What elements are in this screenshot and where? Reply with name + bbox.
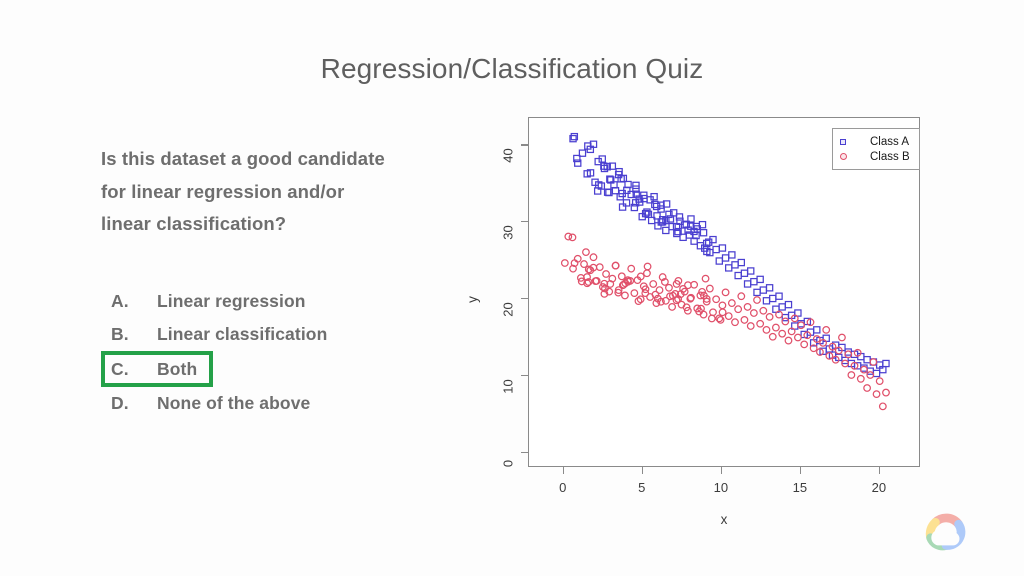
data-point xyxy=(760,287,766,293)
y-tick-label: 0 xyxy=(501,450,516,476)
legend-label-class-b: Class B xyxy=(858,151,910,163)
data-point xyxy=(633,182,639,188)
question-block: Is this dataset a good candidate for lin… xyxy=(101,143,391,241)
data-point xyxy=(644,270,651,277)
chart-legend: Class A Class B xyxy=(832,128,920,170)
data-point xyxy=(858,376,865,383)
data-point xyxy=(839,334,846,341)
data-point xyxy=(767,285,773,291)
data-point xyxy=(719,302,726,309)
data-point xyxy=(729,300,736,307)
data-point xyxy=(776,293,782,299)
data-point xyxy=(751,310,758,317)
data-point xyxy=(741,317,748,324)
data-point xyxy=(741,270,747,276)
data-point xyxy=(628,265,635,272)
y-tick-label: 30 xyxy=(501,219,516,245)
data-point xyxy=(785,337,792,344)
data-point xyxy=(697,243,703,249)
data-point xyxy=(562,260,569,267)
data-point xyxy=(801,341,808,348)
data-point xyxy=(716,258,722,264)
answer-option-label: None of the above xyxy=(157,393,310,414)
legend-item-class-a: Class A xyxy=(840,134,910,149)
legend-label-class-a: Class A xyxy=(858,136,909,148)
data-point xyxy=(700,230,706,236)
data-point xyxy=(823,335,829,341)
data-point xyxy=(732,262,738,268)
data-point xyxy=(779,304,785,310)
x-tick-mark xyxy=(721,467,723,474)
class-a-marker-icon xyxy=(840,139,858,145)
data-point xyxy=(719,245,725,251)
data-point xyxy=(729,252,735,258)
answer-option-b[interactable]: B.Linear classification xyxy=(101,318,431,351)
x-tick-mark xyxy=(642,467,644,474)
data-point xyxy=(873,370,879,376)
answer-option-label: Linear regression xyxy=(157,291,306,312)
data-point xyxy=(596,264,603,271)
data-point xyxy=(612,262,619,269)
x-axis-title: x xyxy=(528,512,920,527)
data-point xyxy=(719,309,726,316)
data-point xyxy=(870,359,877,366)
data-point xyxy=(631,290,638,297)
x-tick-label: 15 xyxy=(785,480,815,495)
data-point xyxy=(779,330,786,337)
data-point xyxy=(691,281,698,288)
data-point xyxy=(823,327,830,334)
data-point xyxy=(763,298,769,304)
data-point xyxy=(685,282,692,289)
data-point xyxy=(583,249,590,256)
data-point xyxy=(883,360,889,366)
y-tick-mark xyxy=(521,452,528,454)
data-point xyxy=(773,324,780,331)
data-point xyxy=(644,263,651,270)
data-point xyxy=(845,351,852,358)
data-point xyxy=(814,327,820,333)
data-point xyxy=(726,265,732,271)
answer-option-letter: D. xyxy=(111,393,157,414)
data-point xyxy=(745,281,751,287)
data-point xyxy=(669,224,675,230)
data-point xyxy=(732,319,739,326)
y-tick-mark xyxy=(521,221,528,223)
data-point xyxy=(710,309,717,316)
data-point xyxy=(861,366,868,373)
data-point xyxy=(590,254,597,261)
data-point xyxy=(770,295,776,301)
data-point xyxy=(769,333,776,340)
data-point xyxy=(747,323,754,330)
x-tick-mark xyxy=(563,467,565,474)
x-tick-label: 10 xyxy=(706,480,736,495)
data-point xyxy=(622,292,629,299)
class-b-marker-icon xyxy=(840,153,858,160)
data-point xyxy=(725,313,732,320)
data-point xyxy=(880,403,887,410)
x-tick-label: 20 xyxy=(864,480,894,495)
data-point xyxy=(782,318,789,325)
y-tick-mark xyxy=(521,144,528,146)
data-point xyxy=(760,307,767,314)
data-point xyxy=(623,200,629,206)
y-tick-label: 10 xyxy=(501,373,516,399)
google-cloud-logo xyxy=(916,503,978,557)
data-point xyxy=(766,314,773,321)
data-point xyxy=(735,306,742,313)
cloud-icon xyxy=(916,503,978,557)
y-tick-label: 20 xyxy=(501,296,516,322)
answer-option-letter: B. xyxy=(111,324,157,345)
data-point xyxy=(709,315,716,322)
data-point xyxy=(713,296,720,303)
scatter-points-layer xyxy=(529,118,919,466)
data-point xyxy=(795,334,802,341)
data-point xyxy=(650,281,657,288)
data-point xyxy=(620,204,626,210)
data-point xyxy=(738,293,745,300)
data-point xyxy=(603,271,610,278)
data-point xyxy=(873,391,880,398)
legend-item-class-b: Class B xyxy=(840,149,910,164)
answer-option-d[interactable]: D.None of the above xyxy=(101,387,431,420)
data-point xyxy=(702,275,709,282)
answer-option-letter: C. xyxy=(111,359,157,380)
data-point xyxy=(757,276,763,282)
data-point xyxy=(848,372,855,379)
x-tick-label: 5 xyxy=(627,480,657,495)
data-point xyxy=(722,289,729,296)
data-point xyxy=(735,272,741,278)
data-point xyxy=(744,304,751,311)
question-text: Is this dataset a good candidate for lin… xyxy=(101,143,391,241)
data-point xyxy=(748,268,754,274)
x-tick-label: 0 xyxy=(548,480,578,495)
answer-options-list: A.Linear regressionB.Linear classificati… xyxy=(101,285,431,420)
data-point xyxy=(707,285,714,292)
y-tick-label: 40 xyxy=(501,142,516,168)
y-axis-title: y xyxy=(465,296,480,303)
data-point xyxy=(757,320,764,327)
data-point xyxy=(666,285,673,292)
series-class-b xyxy=(562,233,890,409)
answer-option-letter: A. xyxy=(111,291,157,312)
data-point xyxy=(619,273,626,280)
data-point xyxy=(663,227,669,233)
data-point xyxy=(754,297,761,304)
data-point xyxy=(754,289,760,295)
y-tick-mark xyxy=(521,375,528,377)
answer-option-label: Both xyxy=(157,359,197,380)
scatter-chart: y 05101520010203040 x Class A Class B xyxy=(470,108,940,538)
data-point xyxy=(798,322,805,329)
page-title: Regression/Classification Quiz xyxy=(0,53,1024,85)
data-point xyxy=(867,372,874,379)
y-tick-mark xyxy=(521,298,528,300)
data-point xyxy=(864,385,871,392)
x-tick-mark xyxy=(800,467,802,474)
data-point xyxy=(722,255,728,261)
data-point xyxy=(738,259,744,265)
data-point xyxy=(751,279,757,285)
x-tick-mark xyxy=(879,467,881,474)
data-point xyxy=(876,378,883,385)
answer-option-c[interactable]: C.Both xyxy=(101,351,213,387)
data-point xyxy=(864,357,870,363)
data-point xyxy=(713,246,719,252)
data-point xyxy=(569,234,576,241)
answer-option-a[interactable]: A.Linear regression xyxy=(101,285,431,318)
data-point xyxy=(785,302,791,308)
answer-option-label: Linear classification xyxy=(157,324,327,345)
data-point xyxy=(669,304,676,311)
data-point xyxy=(883,389,890,396)
data-point xyxy=(763,327,770,334)
